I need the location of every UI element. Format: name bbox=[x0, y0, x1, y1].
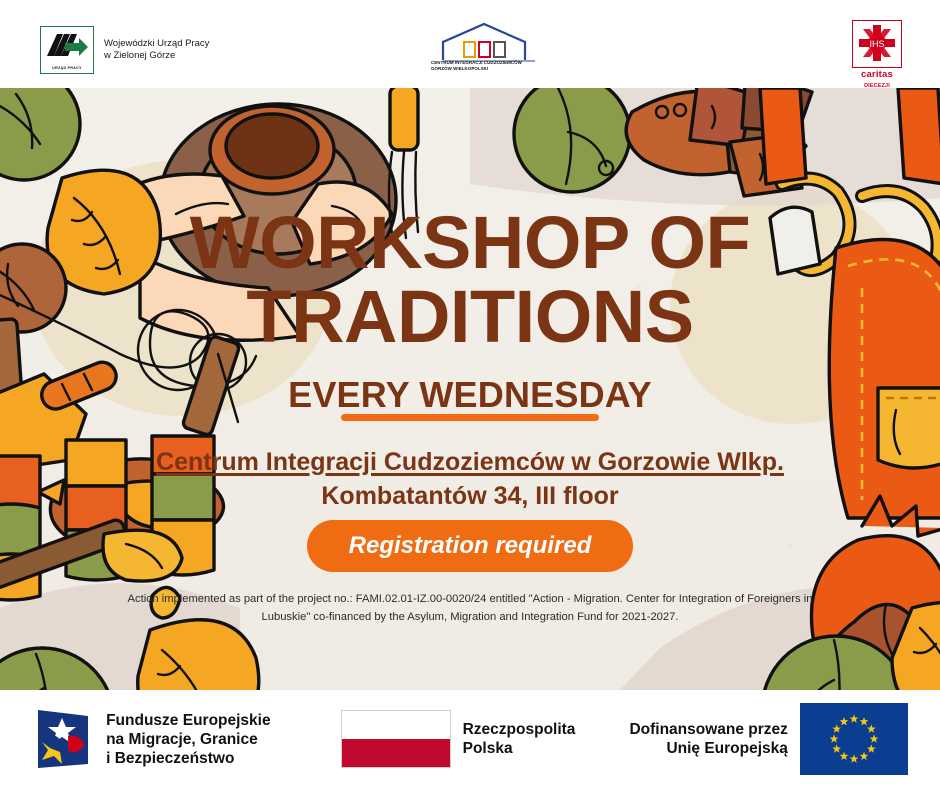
logo-centrum-integracji: CENTRUM INTEGRACJI CUDZOZIEMCÓW GORZÓW W… bbox=[425, 22, 545, 84]
caritas-cross-icon: IHS bbox=[852, 20, 902, 68]
wup-logo-text: Wojewódzki Urząd Pracy w Zielonej Górze bbox=[104, 38, 209, 62]
caritas-wordmark: caritas bbox=[838, 69, 916, 80]
co-funded-text: Dofinansowane przez Unię Europejską bbox=[629, 720, 787, 758]
eu-funds-flag-icon bbox=[32, 706, 94, 772]
logo-rzeczpospolita-polska: Rzeczpospolita Polska bbox=[341, 710, 576, 768]
co-funded-line1: Dofinansowane przez bbox=[629, 720, 787, 739]
urzad-pracy-badge-label: URZĄD PRACY bbox=[41, 66, 93, 70]
republic-line1: Rzeczpospolita bbox=[463, 720, 576, 739]
poster: URZĄD PRACY Wojewódzki Urząd Pracy w Zie… bbox=[0, 0, 940, 788]
page-title: WORKSHOP OF TRADITIONS bbox=[0, 206, 940, 354]
house-icon bbox=[425, 22, 545, 62]
wup-line2: w Zielonej Górze bbox=[104, 50, 209, 62]
funding-disclaimer: Action implemented as part of the projec… bbox=[120, 590, 820, 626]
subtitle-wrap: EVERY WEDNESDAY bbox=[0, 374, 940, 416]
urzad-pracy-icon: URZĄD PRACY bbox=[40, 26, 94, 74]
cta-wrap: Registration required bbox=[0, 520, 940, 572]
caritas-cross-glyph: IHS bbox=[854, 21, 900, 65]
venue-name-text: Centrum Integracji Cudzoziemców w Gorzow… bbox=[156, 448, 784, 476]
venue-name: Centrum Integracji Cudzoziemców w Gorzow… bbox=[0, 448, 940, 477]
poland-flag-icon bbox=[341, 710, 451, 768]
eu-funds-line1: Fundusze Europejskie bbox=[106, 711, 271, 730]
schedule-subtitle: EVERY WEDNESDAY bbox=[288, 374, 652, 416]
venue-address: Kombatantów 34, III floor bbox=[0, 482, 940, 511]
logo-dofinansowane-ue: Dofinansowane przez Unię Europejską bbox=[629, 703, 907, 775]
poster-content: WORKSHOP OF TRADITIONS EVERY WEDNESDAY C… bbox=[0, 88, 940, 690]
cic-logo-text: CENTRUM INTEGRACJI CUDZOZIEMCÓW GORZÓW W… bbox=[431, 60, 545, 72]
arrow-blades-icon bbox=[45, 32, 89, 60]
co-funded-line2: Unię Europejską bbox=[629, 739, 787, 758]
svg-text:IHS: IHS bbox=[869, 39, 884, 49]
cic-line2: GORZÓW WIELKOPOLSKI bbox=[431, 66, 545, 72]
header-logo-bar: URZĄD PRACY Wojewódzki Urząd Pracy w Zie… bbox=[0, 0, 940, 88]
title-line-1: WORKSHOP OF bbox=[190, 201, 750, 284]
title-line-2: TRADITIONS bbox=[0, 280, 940, 354]
eu-stars-circle bbox=[800, 703, 908, 775]
poland-flag-red-band bbox=[342, 739, 450, 767]
eu-funds-line2: na Migracje, Granice bbox=[106, 730, 271, 749]
republic-text: Rzeczpospolita Polska bbox=[463, 720, 576, 758]
republic-line2: Polska bbox=[463, 739, 576, 758]
wup-line1: Wojewódzki Urząd Pracy bbox=[104, 38, 209, 50]
orange-underline-brush bbox=[341, 414, 599, 421]
logo-wojewodzki-urzad-pracy: URZĄD PRACY Wojewódzki Urząd Pracy w Zie… bbox=[40, 26, 209, 74]
eu-flag-icon bbox=[800, 703, 908, 775]
eu-funds-line3: i Bezpieczeństwo bbox=[106, 749, 271, 768]
eu-funds-text: Fundusze Europejskie na Migracje, Granic… bbox=[106, 711, 271, 768]
schedule-subtitle-text: EVERY WEDNESDAY bbox=[288, 374, 652, 415]
registration-required-button[interactable]: Registration required bbox=[307, 520, 634, 572]
footer-logo-bar: Fundusze Europejskie na Migracje, Granic… bbox=[0, 690, 940, 788]
logo-fundusze-europejskie: Fundusze Europejskie na Migracje, Granic… bbox=[32, 706, 271, 772]
poland-flag-white-band bbox=[342, 711, 450, 739]
